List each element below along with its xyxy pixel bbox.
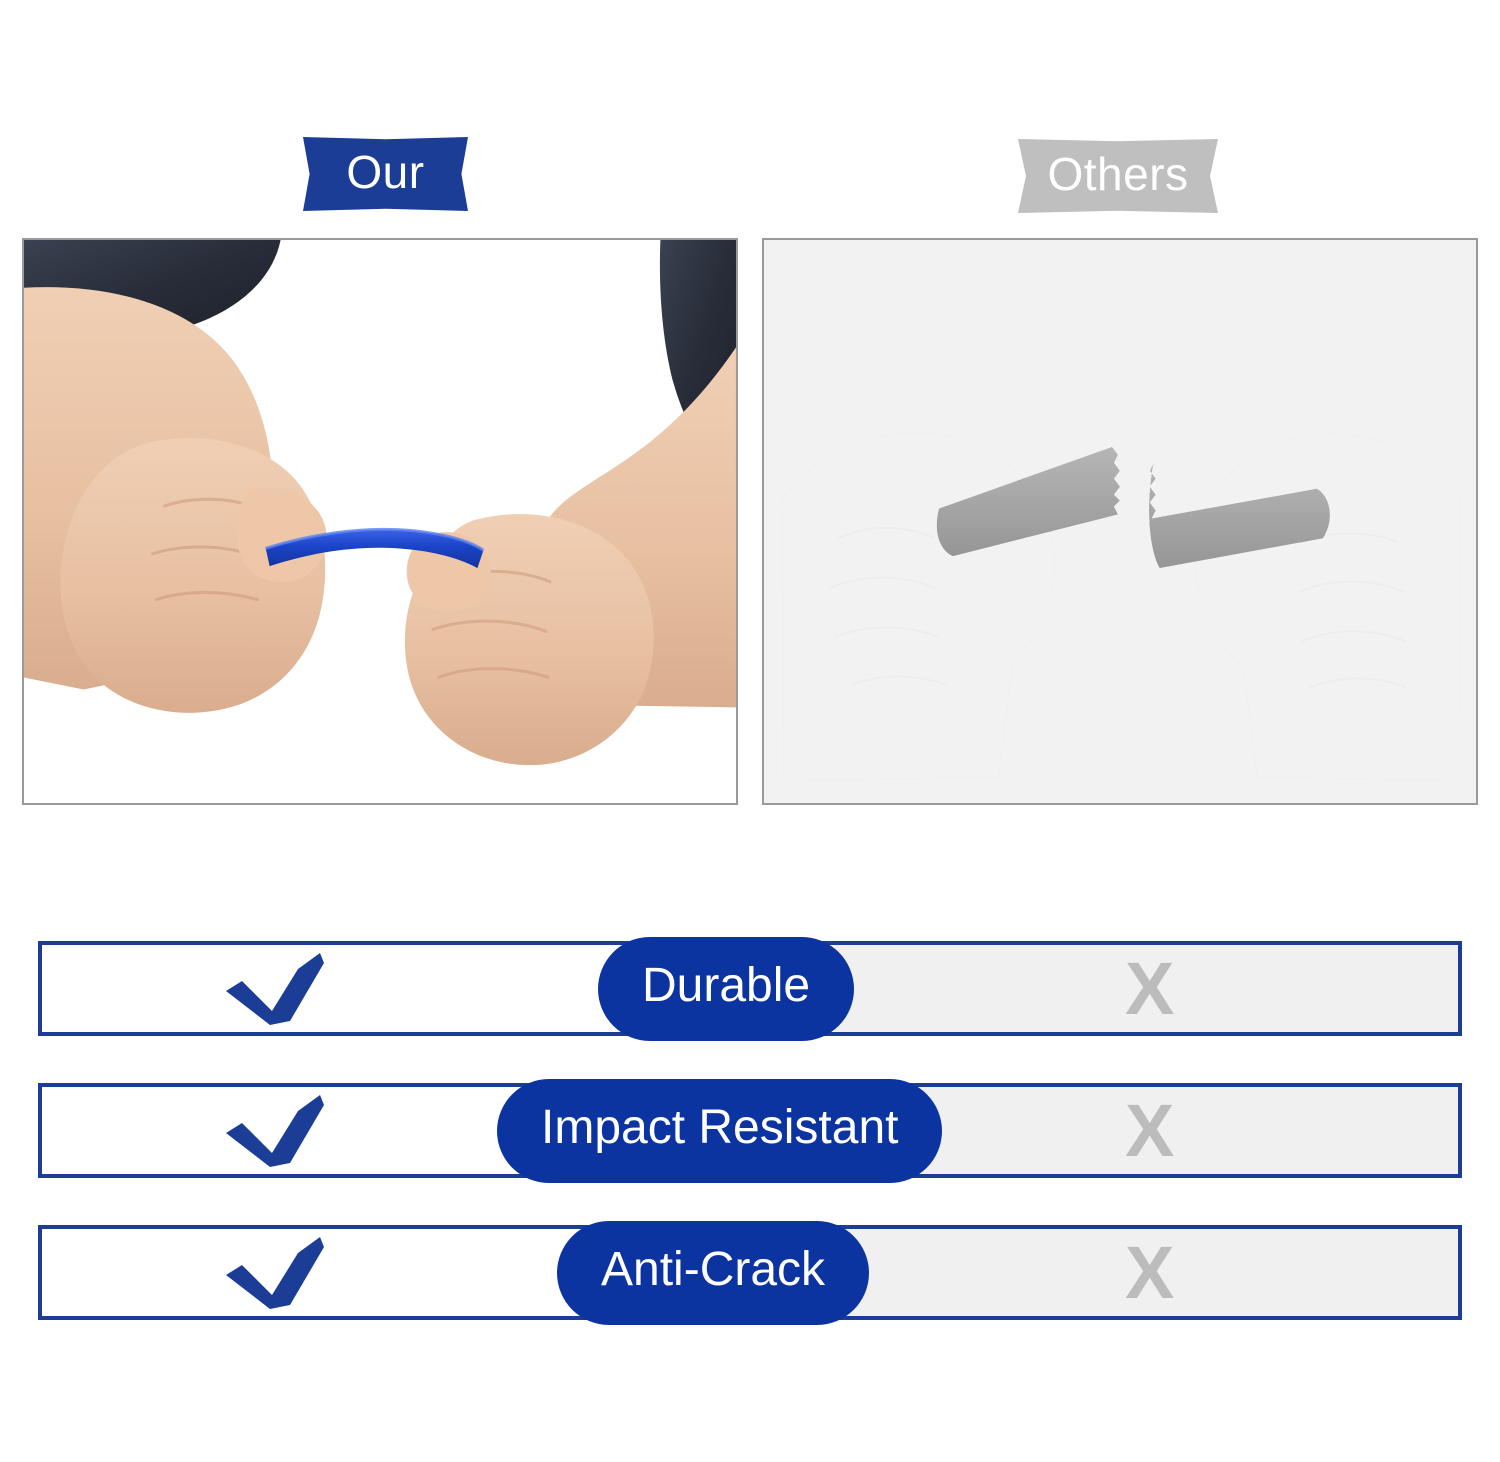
- feature-row-impact-resistant: X Impact Resistant: [38, 1083, 1462, 1178]
- feature-label-anti-crack: Anti-Crack: [557, 1221, 869, 1325]
- comparison-infographic: Our Others: [0, 0, 1500, 1462]
- others-column-durable: X: [835, 945, 1458, 1032]
- cross-icon: X: [1125, 1236, 1174, 1310]
- feature-row-anti-crack: X Anti-Crack: [38, 1225, 1462, 1320]
- others-product-photo: [762, 238, 1478, 805]
- check-icon: [220, 1233, 340, 1313]
- cross-icon: X: [1125, 1094, 1174, 1168]
- our-banner-label: Our: [303, 137, 468, 211]
- others-banner-label: Others: [1018, 139, 1218, 213]
- our-product-photo: [22, 238, 738, 805]
- others-product-illustration: [764, 240, 1476, 804]
- check-icon: [220, 1091, 340, 1171]
- feature-row-durable: X Durable: [38, 941, 1462, 1036]
- our-product-illustration: [24, 240, 736, 804]
- check-icon: [220, 949, 340, 1029]
- feature-label-durable: Durable: [598, 937, 854, 1041]
- cross-icon: X: [1125, 952, 1174, 1026]
- others-column-anti-crack: X: [835, 1229, 1458, 1316]
- feature-label-impact-resistant: Impact Resistant: [497, 1079, 942, 1183]
